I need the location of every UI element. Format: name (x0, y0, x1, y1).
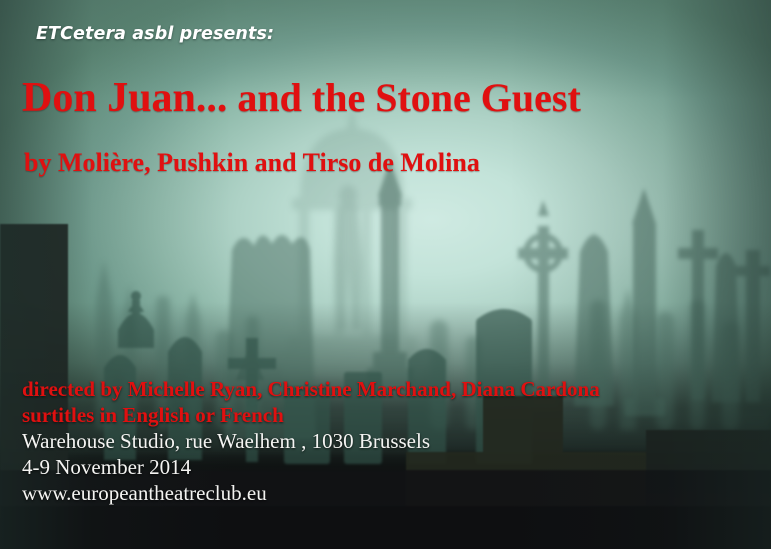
footer-line-dates: 4-9 November 2014 (22, 454, 752, 480)
poster-footer: directed by Michelle Ryan, Christine Mar… (22, 376, 752, 506)
page-title: Don Juan... and the Stone Guest (22, 76, 581, 120)
presenter-line: ETCetera asbl presents: (36, 24, 274, 44)
theatre-poster: ETCetera asbl presents: Don Juan... and … (0, 0, 771, 549)
title-lead: Don Juan... (22, 75, 227, 121)
poster-text-content: ETCetera asbl presents: Don Juan... and … (0, 0, 771, 549)
footer-line-surtitles: surtitles in English or French (22, 402, 752, 428)
footer-line-venue: Warehouse Studio, rue Waelhem , 1030 Bru… (22, 428, 752, 454)
footer-line-directors: directed by Michelle Ryan, Christine Mar… (22, 376, 752, 402)
authors-line: by Molière, Pushkin and Tirso de Molina (24, 148, 480, 178)
footer-line-website[interactable]: www.europeantheatreclub.eu (22, 480, 752, 506)
title-rest: and the Stone Guest (227, 75, 580, 120)
